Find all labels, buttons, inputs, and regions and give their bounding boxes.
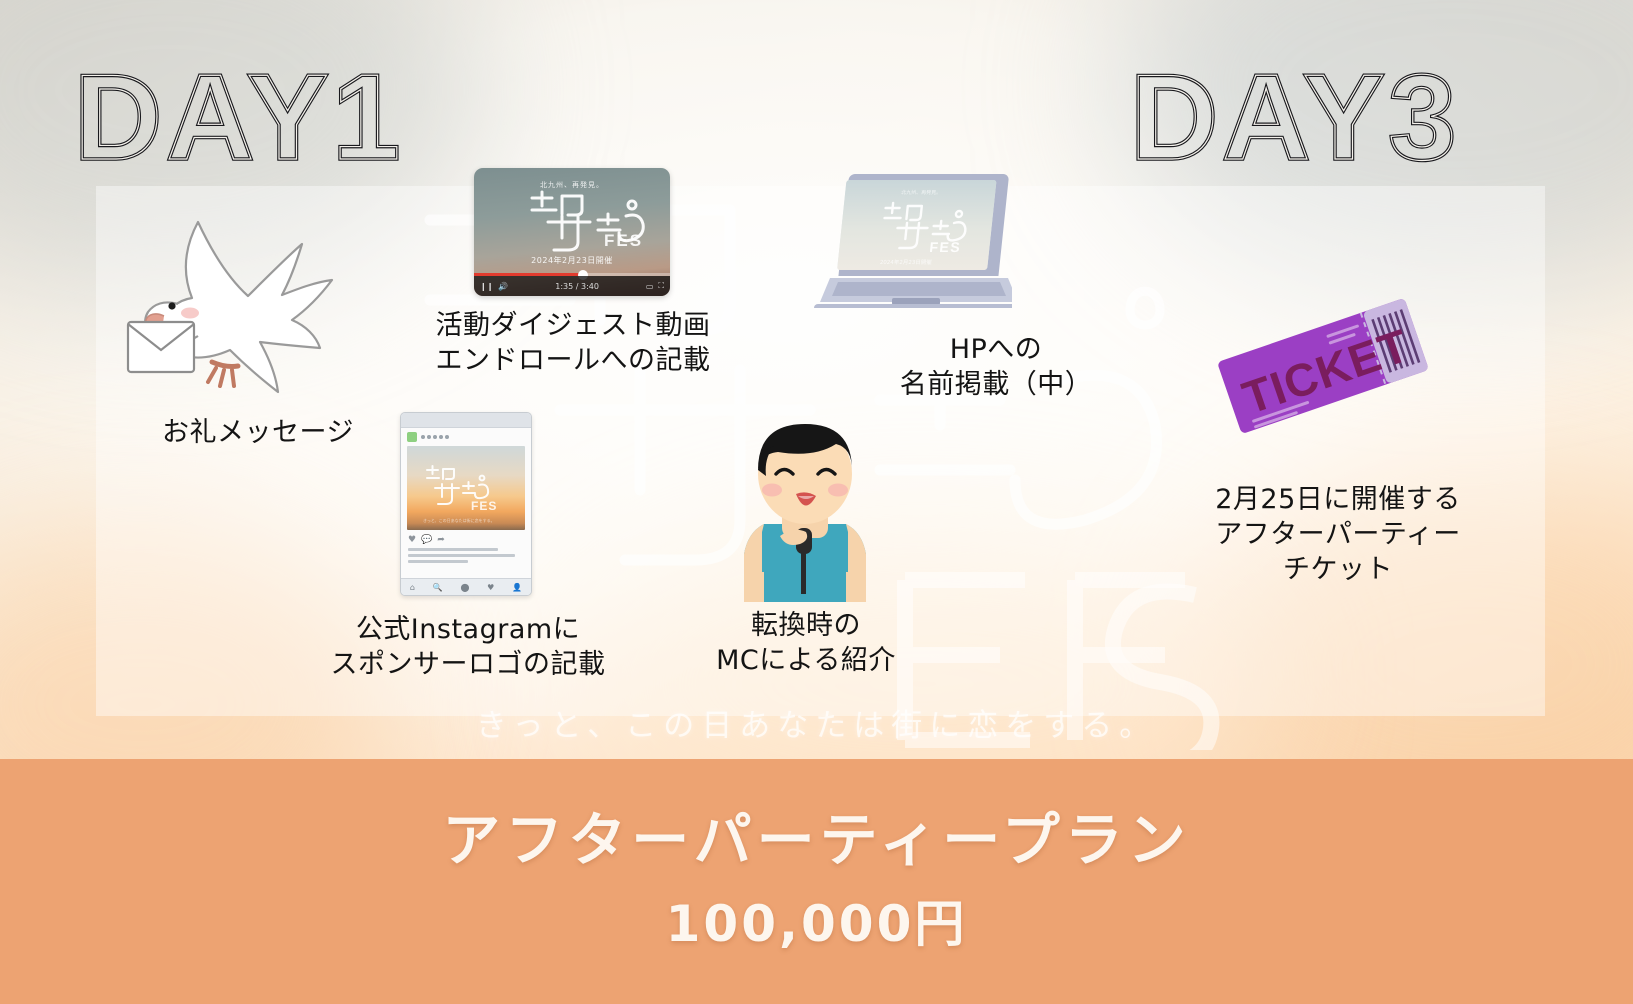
- ticket-illustration: TICKET: [1208, 276, 1438, 460]
- share-icon[interactable]: ➦: [437, 535, 445, 545]
- hp-listing-caption: HPへの 名前掲載（中）: [846, 332, 1146, 402]
- video-date-text: 2024年2月23日開催: [474, 255, 670, 266]
- post-photo-logo: FES きっと、この日あなたは街に恋をする。: [407, 446, 525, 530]
- instagram-post-icon[interactable]: FES きっと、この日あなたは街に恋をする。 ♥ 💬 ➦ ⌂ 🔍 ⬤ ♥ 👤: [400, 412, 532, 596]
- video-logo: FES: [474, 174, 670, 256]
- post-header: [401, 428, 531, 446]
- thanks-message-illustration: [120, 200, 380, 409]
- miniplayer-icon[interactable]: ▭: [646, 282, 654, 291]
- volume-icon[interactable]: 🔊: [498, 282, 508, 291]
- digest-video-caption: 活動ダイジェスト動画 エンドロールへの記載: [398, 308, 748, 378]
- instagram-illustration: FES きっと、この日あなたは街に恋をする。 ♥ 💬 ➦ ⌂ 🔍 ⬤ ♥ 👤: [400, 412, 530, 596]
- svg-text:きっと、この日あなたは街に恋をする。: きっと、この日あなたは街に恋をする。: [423, 517, 495, 523]
- add-post-icon[interactable]: ⬤: [460, 583, 469, 592]
- svg-text:FES: FES: [929, 239, 962, 255]
- laptop-icon: FES 2024年2月23日開催 北九州、再発見。: [812, 166, 1012, 326]
- svg-text:FES: FES: [604, 231, 643, 250]
- avatar: [407, 432, 417, 442]
- hp-listing-illustration: FES 2024年2月23日開催 北九州、再発見。: [812, 166, 1012, 330]
- fullscreen-icon[interactable]: ⛶: [658, 281, 664, 291]
- svg-text:北九州、再発見。: 北九州、再発見。: [901, 189, 942, 196]
- dove-with-letter-icon: [120, 200, 380, 405]
- post-photo: FES きっと、この日あなたは街に恋をする。: [407, 446, 525, 530]
- mc-caption: 転換時の MCによる紹介: [676, 608, 936, 678]
- thanks-message-caption: お礼メッセージ: [108, 415, 408, 450]
- video-timestamp: 1:35 / 3:40: [555, 282, 599, 291]
- svg-text:FES: FES: [471, 499, 497, 513]
- plan-title: アフターパーティープラン: [442, 807, 1190, 874]
- ticket-caption: 2月25日に開催する アフターパーティー チケット: [1188, 482, 1488, 587]
- video-player-icon[interactable]: 北九州、再発見。 FES 2024年2月23日開催: [474, 168, 670, 296]
- slide-canvas: DAY1 DAY1 DAY3 DAY3 お礼メッセージ 北九州、再発見。: [0, 0, 1633, 1004]
- day1-heading: DAY1 DAY1: [74, 56, 404, 178]
- digest-video-illustration: 北九州、再発見。 FES 2024年2月23日開催: [474, 168, 670, 296]
- profile-icon[interactable]: 👤: [512, 583, 522, 592]
- instagram-caption: 公式Instagramに スポンサーロゴの記載: [288, 612, 648, 682]
- phone-bottom-nav[interactable]: ⌂ 🔍 ⬤ ♥ 👤: [401, 578, 531, 595]
- svg-text:2024年2月23日開催: 2024年2月23日開催: [879, 258, 932, 266]
- comment-icon[interactable]: 💬: [421, 535, 432, 545]
- post-caption-placeholder: [401, 547, 531, 567]
- plan-price: 100,000円: [666, 884, 968, 956]
- heart-icon[interactable]: ♥: [408, 535, 416, 545]
- pause-icon[interactable]: ❙❙: [480, 282, 493, 291]
- day1-heading-outline: DAY1: [74, 56, 404, 178]
- mc-illustration: [720, 412, 890, 606]
- video-controls[interactable]: ❙❙ 🔊 1:35 / 3:40 ▭ ⛶: [474, 276, 670, 296]
- day3-heading: DAY3 DAY3: [1130, 56, 1460, 178]
- post-actions[interactable]: ♥ 💬 ➦: [401, 530, 531, 547]
- activity-heart-icon[interactable]: ♥: [487, 583, 494, 592]
- home-icon[interactable]: ⌂: [410, 583, 415, 592]
- day3-heading-outline: DAY3: [1130, 56, 1460, 178]
- search-icon[interactable]: 🔍: [433, 583, 443, 592]
- phone-status-bar: [401, 413, 531, 428]
- ticket-icon: TICKET: [1208, 276, 1438, 456]
- mc-person-with-microphone-icon: [720, 412, 890, 602]
- plan-banner: アフターパーティープラン 100,000円: [0, 759, 1633, 1004]
- account-name-placeholder: [421, 435, 449, 439]
